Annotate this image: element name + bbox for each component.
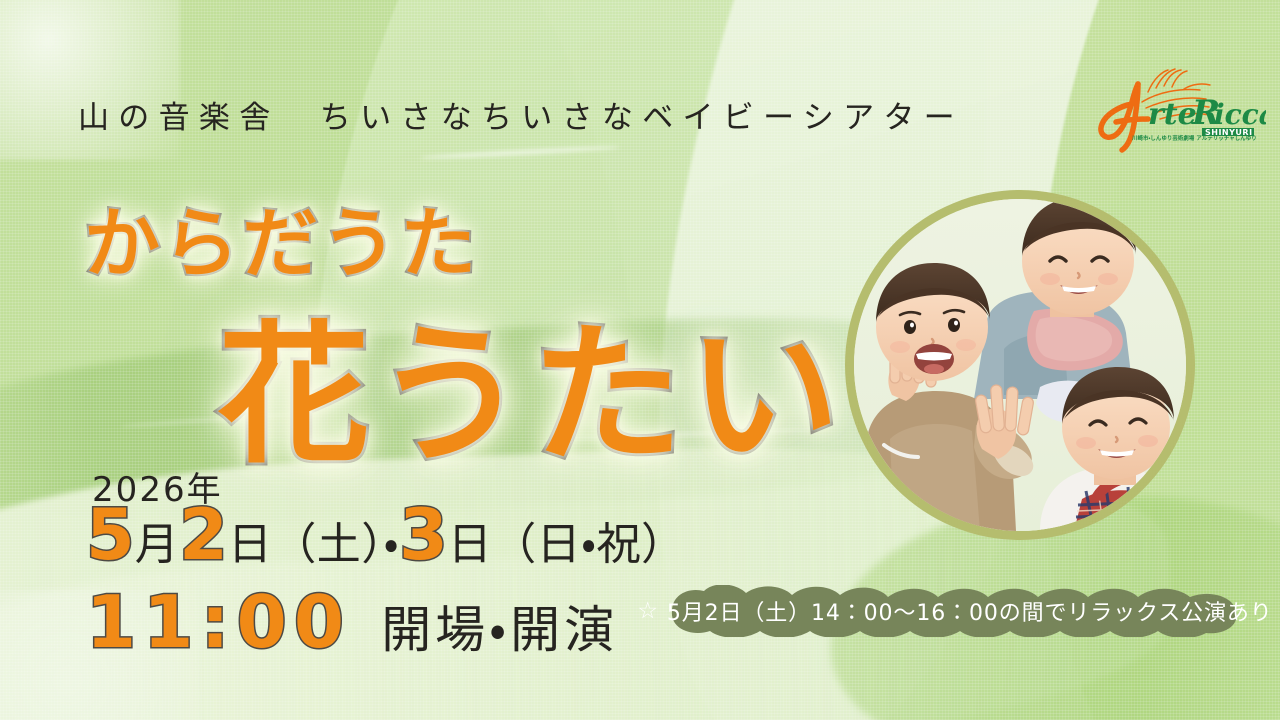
date-day-suffix-1: 日（土）・ [228, 523, 399, 567]
date-month-number: 5 [86, 500, 135, 570]
svg-text:icca: icca [1214, 98, 1266, 131]
logo-subtitle: 川崎市・しんゆり芸術劇場 アルテリッチャしんゆり [1132, 134, 1257, 142]
relax-performance-banner: ☆ 5月2日（土）14：00〜16：00の間でリラックス公演あり [650, 585, 1256, 637]
schedule-time: 11:00 [86, 586, 351, 658]
schedule-date-line: 5 月 2 日（土）・ 3 日（日・祝） [86, 500, 685, 570]
relax-banner-label: 5月2日（土）14：00〜16：00の間でリラックス公演あり [667, 595, 1273, 627]
star-icon: ☆ [637, 598, 659, 624]
photo-image-babies [854, 199, 1186, 531]
schedule-time-line: 11:00 開場・開演 [86, 586, 618, 658]
photo-circle [845, 190, 1195, 540]
date-day-number-2: 3 [399, 500, 448, 570]
date-month-unit: 月 [135, 523, 179, 567]
schedule-time-label: 開場・開演 [381, 605, 618, 655]
presenter-line: 山の音楽舎 ちいさなちいさなベイビーシアター [78, 92, 964, 137]
relax-banner-text: ☆ 5月2日（土）14：00〜16：00の間でリラックス公演あり [650, 585, 1256, 637]
arte-ricca-logo[interactable]: rte R icca SHINYURI 川崎市・しんゆり芸術劇場 アルテリッチャ… [1076, 62, 1266, 154]
svg-text:rte: rte [1148, 97, 1197, 132]
date-day-suffix-2: 日（日・祝） [448, 523, 686, 567]
date-day-number-1: 2 [179, 500, 228, 570]
poster-root: 山の音楽舎 ちいさなちいさなベイビーシアター [0, 0, 1280, 720]
main-title-hanautai: 花うたい [218, 272, 844, 492]
